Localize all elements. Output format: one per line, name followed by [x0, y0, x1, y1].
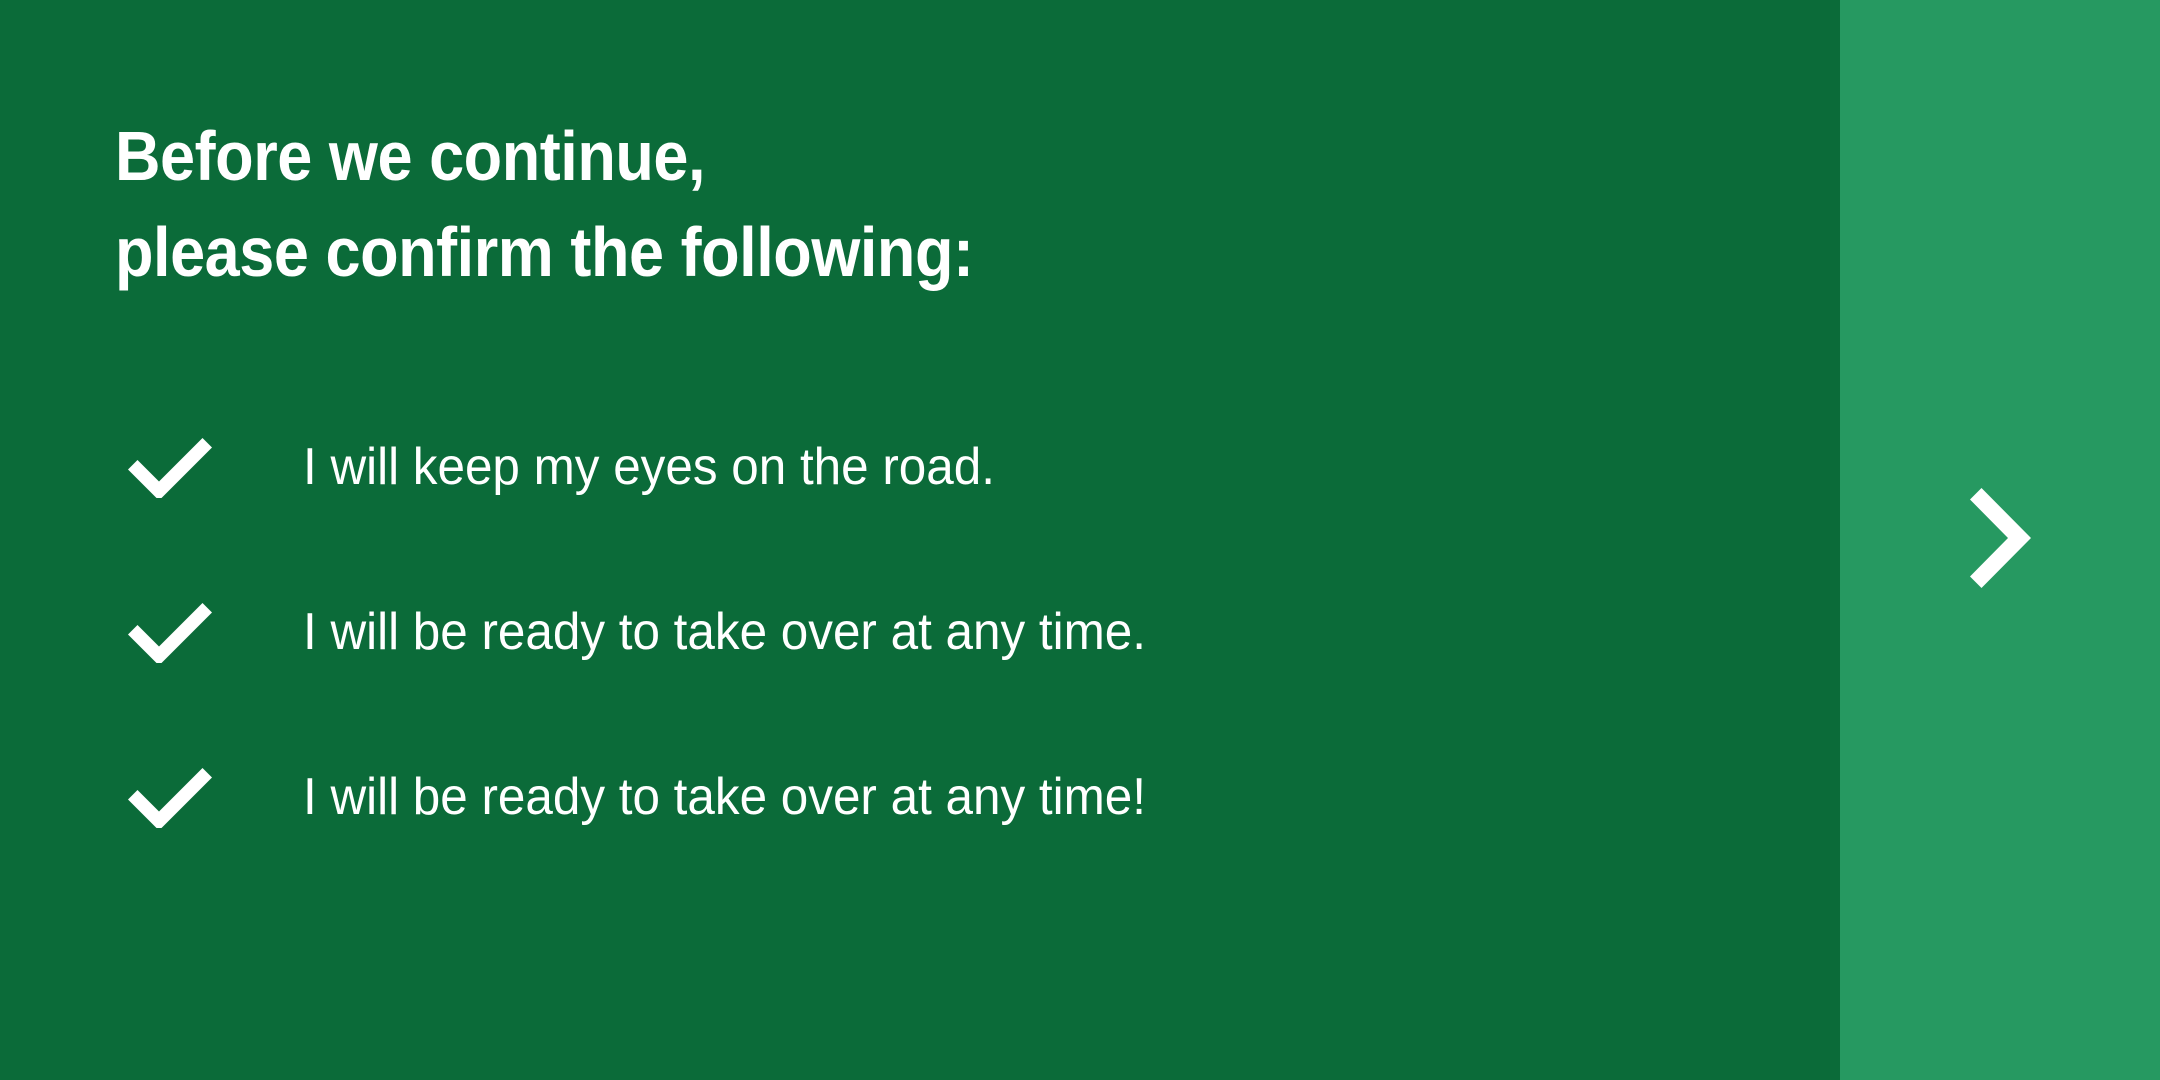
- checklist-item-label: I will be ready to take over at any time…: [303, 601, 1146, 663]
- chevron-right-icon[interactable]: [1970, 488, 2032, 588]
- check-icon: [128, 766, 212, 828]
- checklist-item-label: I will keep my eyes on the road.: [303, 436, 995, 498]
- checklist-item-label: I will be ready to take over at any time…: [303, 766, 1146, 828]
- check-icon: [128, 601, 212, 663]
- confirmation-checklist: I will keep my eyes on the road. I will …: [115, 384, 1715, 879]
- checklist-item-ready-to-take-over-2[interactable]: I will be ready to take over at any time…: [115, 714, 1715, 879]
- next-button[interactable]: [1840, 0, 2160, 1080]
- check-icon: [128, 436, 212, 498]
- page-title: Before we continue, please confirm the f…: [115, 108, 974, 300]
- checklist-item-ready-to-take-over-1[interactable]: I will be ready to take over at any time…: [115, 549, 1715, 714]
- content-panel: Before we continue, please confirm the f…: [0, 0, 1840, 1080]
- driver-confirmation-screen: Before we continue, please confirm the f…: [0, 0, 2160, 1080]
- page-title-line-2: please confirm the following:: [115, 204, 974, 300]
- page-title-line-1: Before we continue,: [115, 108, 974, 204]
- checklist-item-eyes-on-road[interactable]: I will keep my eyes on the road.: [115, 384, 1715, 549]
